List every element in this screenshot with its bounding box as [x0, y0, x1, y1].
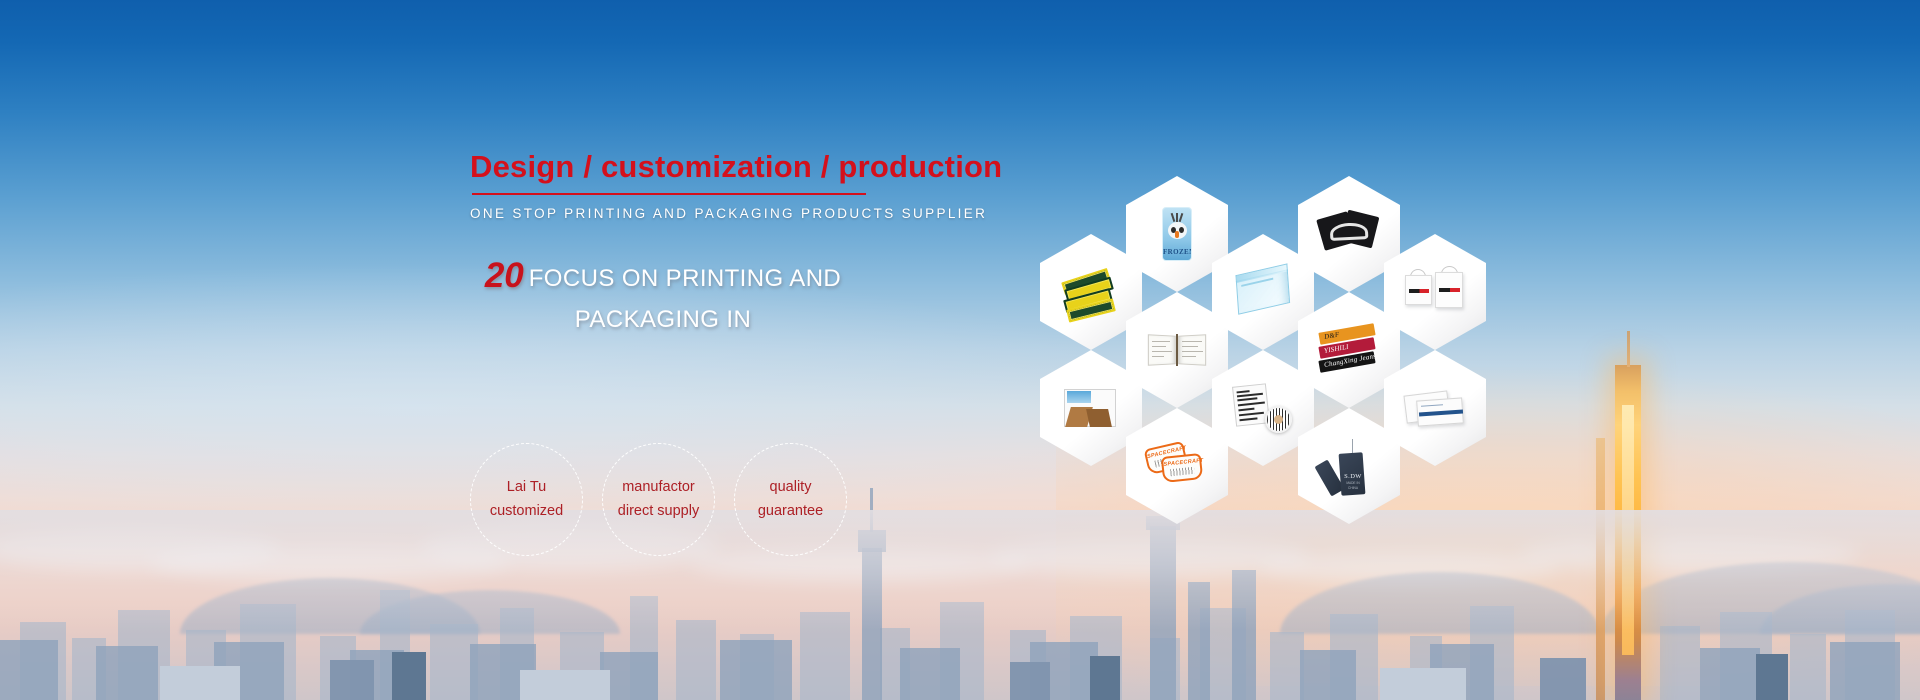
badge-line-2: guarantee [758, 500, 823, 524]
product-image-logo-patches [1318, 203, 1380, 265]
product-image-brand-tapes: D&F YISHILI ChangXing Jeans [1318, 319, 1380, 381]
years-number: 20 [485, 256, 524, 295]
spacecraft-patch-icon: SPACECRAFT SPACECRAFT [1146, 435, 1208, 497]
badge-manufactor-direct-supply[interactable]: manufactor direct supply [602, 443, 715, 556]
banner-copy: Design / customization / production ONE … [470, 150, 890, 339]
badge-line-2: customized [490, 500, 563, 524]
hang-tag-icon: S.DW MADE IN CHINA [1318, 435, 1380, 497]
hex-tile-paper-shopping-bags[interactable] [1384, 234, 1486, 350]
logo-patch-icon [1318, 203, 1380, 265]
sdw-subtext: MADE IN CHINA [1342, 481, 1364, 491]
product-image-letterhead-envelope [1404, 377, 1466, 439]
badge-line-2: direct supply [618, 500, 699, 524]
open-book-icon [1146, 319, 1208, 381]
badge-lai-tu-customized[interactable]: Lai Tu customized [470, 443, 583, 556]
label-roll-icon [1232, 377, 1294, 439]
badge-quality-guarantee[interactable]: quality guarantee [734, 443, 847, 556]
page-subtitle: ONE STOP PRINTING AND PACKAGING PRODUCTS… [470, 206, 890, 221]
feature-badges: Lai Tu customized manufactor direct supp… [470, 443, 847, 556]
product-image-spacecraft-patches: SPACECRAFT SPACECRAFT [1146, 435, 1208, 497]
sdw-wordmark: S.DW [1342, 473, 1364, 480]
tape-label-2: YISHILI [1323, 343, 1349, 355]
product-image-clear-pet-box [1232, 261, 1294, 323]
focus-line-2: PACKAGING IN [470, 301, 856, 339]
experience-statement: 20FOCUS ON PRINTING AND PACKAGING IN [470, 257, 856, 339]
badge-line-1: manufactor [622, 476, 695, 500]
page-title: Design / customization / production [470, 150, 890, 184]
pet-box-icon [1232, 261, 1294, 323]
shopping-bag-icon [1404, 261, 1466, 323]
woven-labels-icon [1060, 261, 1122, 323]
title-underline [472, 193, 866, 195]
product-image-sdw-hang-tags: S.DW MADE IN CHINA [1318, 435, 1380, 497]
spacecraft-wordmark: SPACECRAFT [1163, 458, 1199, 468]
frozen-tag-icon: FROZEN [1146, 203, 1208, 265]
brand-tape-icon: D&F YISHILI ChangXing Jeans [1318, 319, 1380, 381]
focus-line-1: FOCUS ON PRINTING AND [529, 265, 841, 292]
product-hexagon-grid: FROZEN [1040, 118, 1700, 578]
product-image-corrugated-carton [1060, 377, 1122, 439]
product-image-barcode-label-roll [1232, 377, 1294, 439]
product-image-frozen-hang-tag: FROZEN [1146, 203, 1208, 265]
frozen-wordmark: FROZEN [1163, 248, 1191, 256]
product-image-open-book [1146, 319, 1208, 381]
product-image-woven-labels [1060, 261, 1122, 323]
badge-line-1: Lai Tu [507, 476, 547, 500]
carton-icon [1060, 377, 1122, 439]
hex-tile-letterhead-envelope[interactable] [1384, 350, 1486, 466]
promo-banner: Design / customization / production ONE … [0, 0, 1920, 700]
badge-line-1: quality [770, 476, 812, 500]
tape-label-1: D&F [1323, 330, 1340, 341]
letterhead-icon [1404, 377, 1466, 439]
product-image-paper-shopping-bags [1404, 261, 1466, 323]
